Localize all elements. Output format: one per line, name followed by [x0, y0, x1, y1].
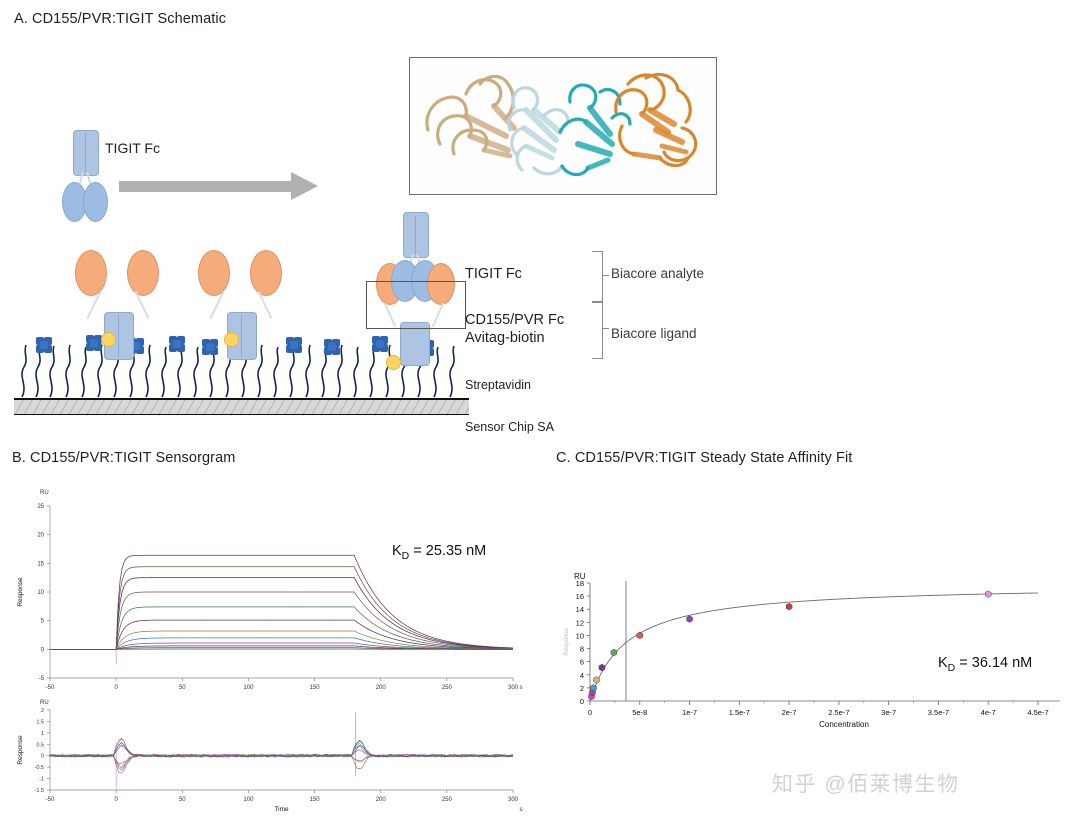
streptavidin-molecule [324, 339, 341, 356]
annotation-cd155-line2: Avitag-biotin [465, 330, 545, 346]
fc-stem [403, 212, 429, 258]
svg-text:300: 300 [508, 685, 519, 691]
svg-text:5: 5 [41, 619, 45, 625]
svg-text:RU: RU [40, 490, 49, 496]
svg-text:50: 50 [179, 797, 186, 803]
panel-b-title: B. CD155/PVR:TIGIT Sensorgram [12, 450, 235, 466]
steady-state-panel: RU02468101214161805e-81e-71.5e-72e-72.5e… [538, 565, 1074, 765]
annotation-cd155-line1: CD155/PVR Fc [465, 312, 564, 328]
svg-text:300: 300 [508, 797, 519, 803]
svg-text:6: 6 [580, 658, 584, 667]
fc-stem [73, 130, 99, 176]
kd-annotation-steady-state: KD = 36.14 nM [938, 655, 1032, 674]
svg-text:16: 16 [576, 592, 584, 601]
cd155-ig-domain-left [75, 250, 107, 296]
svg-text:s: s [520, 807, 523, 813]
bracket-ligand-tick [602, 328, 609, 329]
protein-ribbon-structure [409, 57, 717, 195]
svg-text:1.5e-7: 1.5e-7 [729, 708, 750, 717]
svg-text:0: 0 [41, 647, 45, 653]
streptavidin-molecule [36, 337, 53, 354]
svg-text:150: 150 [310, 797, 321, 803]
biotin-tag [386, 355, 401, 370]
bracket-ligand [592, 301, 603, 359]
svg-text:2: 2 [41, 708, 44, 714]
ribbon-diagram-svg [410, 58, 713, 191]
svg-text:s: s [520, 685, 523, 691]
svg-text:50: 50 [179, 685, 186, 691]
svg-text:0: 0 [41, 754, 44, 760]
svg-text:250: 250 [442, 685, 453, 691]
label-biacore-analyte: Biacore analyte [611, 266, 704, 281]
svg-text:0: 0 [588, 708, 592, 717]
svg-text:-1: -1 [39, 777, 44, 783]
label-biacore-ligand: Biacore ligand [611, 326, 697, 341]
svg-text:-50: -50 [46, 685, 55, 691]
annotation-tigit-fc: TIGIT Fc [465, 266, 522, 282]
svg-text:Response: Response [17, 577, 24, 607]
svg-text:18: 18 [576, 579, 584, 588]
sensor-chip-surface [14, 398, 469, 415]
svg-text:150: 150 [310, 685, 321, 691]
cd155-ig-domain-right [127, 250, 159, 296]
svg-text:100: 100 [243, 685, 254, 691]
kd-value-sensorgram: 25.35 nM [426, 543, 486, 559]
streptavidin-molecule [169, 336, 186, 353]
svg-text:10: 10 [37, 590, 44, 596]
bracket-analyte-tick [602, 275, 609, 276]
svg-text:8: 8 [580, 645, 584, 654]
svg-text:3e-7: 3e-7 [881, 708, 896, 717]
svg-text:0.5: 0.5 [36, 742, 44, 748]
svg-text:-5: -5 [39, 676, 45, 682]
svg-text:RU: RU [40, 700, 49, 706]
tigit-fc-free-label: TIGIT Fc [105, 140, 160, 156]
svg-text:250: 250 [442, 797, 453, 803]
svg-text:25: 25 [37, 504, 44, 510]
cd155-ig-domain-left [198, 250, 230, 296]
binding-arrow-head [291, 172, 318, 200]
biotin-tag [101, 332, 116, 347]
cd155-pvr-fc-molecule [198, 250, 284, 358]
cd155-pvr-fc-molecule [75, 250, 161, 358]
svg-text:-0.5: -0.5 [35, 765, 44, 771]
svg-text:0: 0 [114, 685, 118, 691]
svg-text:5e-8: 5e-8 [632, 708, 647, 717]
svg-text:Response: Response [564, 628, 570, 656]
binding-arrow-shaft [119, 181, 297, 192]
svg-text:0: 0 [114, 797, 118, 803]
svg-text:14: 14 [576, 605, 584, 614]
svg-text:-1.5: -1.5 [35, 788, 44, 794]
svg-text:2e-7: 2e-7 [782, 708, 797, 717]
svg-text:4.5e-7: 4.5e-7 [1027, 708, 1048, 717]
sensorgram-chart: RU-50510152025-50050100150200250300sResp… [8, 478, 528, 813]
svg-text:100: 100 [243, 797, 254, 803]
kd-value-steady-state: 36.14 nM [972, 655, 1032, 671]
annotation-streptavidin: Streptavidin [465, 378, 531, 392]
svg-text:Response: Response [17, 735, 24, 765]
svg-text:1.5: 1.5 [36, 719, 44, 725]
streptavidin-molecule [286, 337, 303, 354]
svg-text:20: 20 [37, 533, 44, 539]
watermark: 知乎 @佰莱博生物 [772, 768, 960, 798]
svg-text:Time: Time [274, 806, 289, 813]
svg-text:0: 0 [580, 697, 584, 706]
biotin-tag [224, 332, 239, 347]
tigit-fc-free-molecule [62, 130, 108, 222]
svg-text:-50: -50 [46, 797, 55, 803]
panel-c-title: C. CD155/PVR:TIGIT Steady State Affinity… [556, 450, 852, 466]
svg-text:200: 200 [376, 685, 387, 691]
svg-text:10: 10 [576, 631, 584, 640]
svg-text:2.5e-7: 2.5e-7 [828, 708, 849, 717]
chip-hatch-pattern [14, 400, 469, 414]
kd-annotation-sensorgram: KD = 25.35 nM [392, 543, 486, 562]
cd155-ig-domain-right [250, 250, 282, 296]
svg-text:4e-7: 4e-7 [981, 708, 996, 717]
schematic-panel: TIGIT Fc [0, 35, 1080, 435]
svg-text:4: 4 [580, 671, 584, 680]
complex-highlight-box [366, 281, 466, 329]
svg-text:1: 1 [41, 731, 44, 737]
panel-a-title: A. CD155/PVR:TIGIT Schematic [14, 11, 226, 27]
svg-text:Concentration: Concentration [819, 720, 869, 729]
bracket-analyte [592, 251, 603, 303]
svg-text:2: 2 [580, 684, 584, 693]
svg-text:12: 12 [576, 618, 584, 627]
annotation-sensor-chip: Sensor Chip SA [465, 420, 554, 434]
svg-text:1e-7: 1e-7 [682, 708, 697, 717]
sensorgram-panel: RU-50510152025-50050100150200250300sResp… [8, 478, 528, 813]
svg-text:200: 200 [376, 797, 387, 803]
svg-text:15: 15 [37, 561, 44, 567]
ig-domain-right [83, 182, 108, 222]
svg-text:3.5e-7: 3.5e-7 [928, 708, 949, 717]
